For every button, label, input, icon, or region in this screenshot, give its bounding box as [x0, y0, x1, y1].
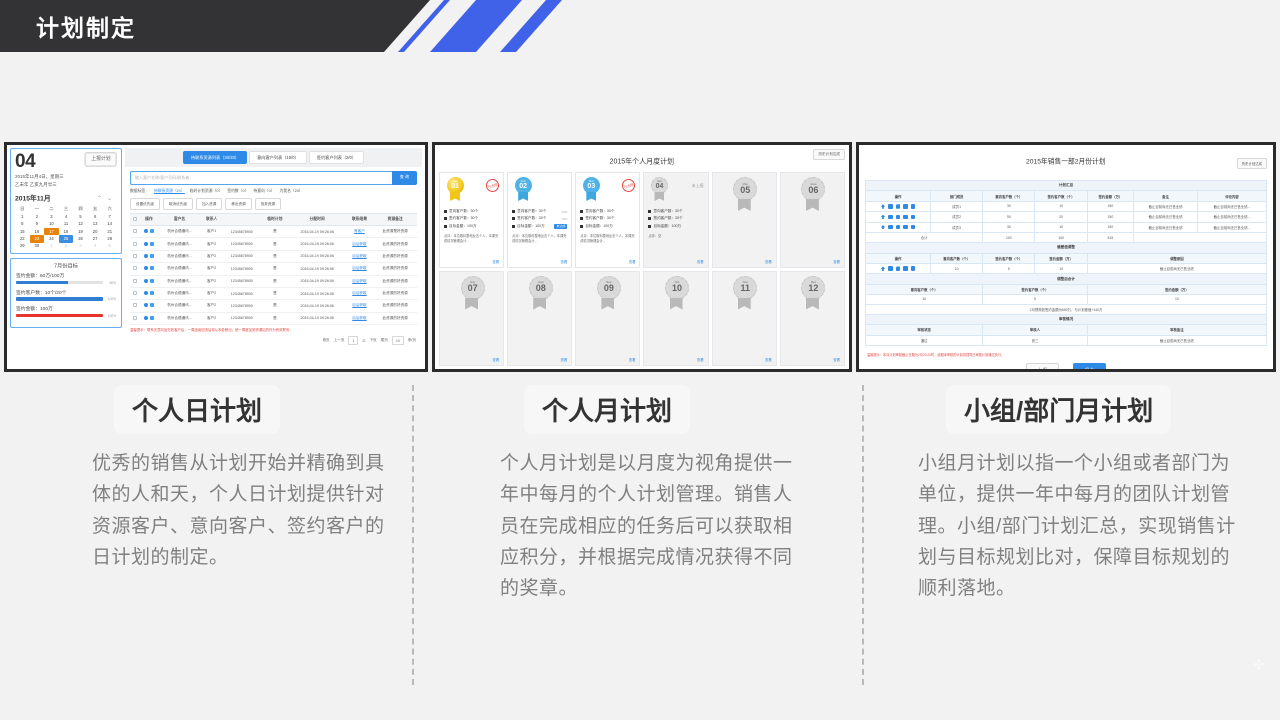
table-cell: 12345678900: [222, 287, 261, 299]
goal-progress-bar: [16, 314, 103, 318]
row-checkbox[interactable]: [130, 312, 140, 324]
table-row[interactable]: 杭州合德通讯...客户212345678900是2015-04-19 09:26…: [130, 312, 417, 324]
table-cell: 150: [1087, 212, 1133, 222]
resource-table-body[interactable]: 杭州合德通讯...客户112345678900是2015-04-19 09:26…: [130, 226, 417, 325]
pager-of: /2: [362, 339, 365, 343]
calendar-day-number: 04: [15, 152, 35, 171]
table-cell: 杭州合德通讯...: [158, 226, 201, 238]
column-header: 意向客户数（个）: [983, 191, 1035, 201]
medal-icon-08: Aug08: [529, 276, 551, 310]
table-cell: 150: [1087, 222, 1133, 232]
column-header-0: [130, 214, 140, 226]
calendar-day[interactable]: 29: [15, 243, 30, 250]
metric-list: 意向客户数：30个签约客户数：30个目标金额：100万: [580, 209, 635, 231]
column-header-2: 客户名: [158, 214, 201, 226]
column-header: 评论内容: [1198, 191, 1267, 201]
month-view-link[interactable]: 查看: [444, 259, 499, 264]
month-comment: 点评：本位取料整地反击个人，本课完成情况管理会计...: [580, 234, 635, 243]
section-header-row: 审核情况: [866, 314, 1267, 324]
calendar-day[interactable]: 7: [102, 213, 117, 220]
filter-link-4[interactable]: 为我名（20）: [280, 189, 303, 194]
table-cell: 此资源的好资源: [373, 238, 417, 250]
achieved-stamp: 已达成: [484, 177, 500, 193]
calendar-day[interactable]: 18: [59, 228, 74, 235]
table-cell: 后后获取: [346, 312, 374, 324]
calendar-date-line-2: 乙未年 乙亥九月廿三: [15, 182, 143, 189]
save-button[interactable]: 保 存: [1073, 363, 1106, 372]
table-cell: 后后获取: [346, 250, 374, 262]
calendar-day[interactable]: 27: [88, 235, 103, 242]
calendar-month-label: 2015年11月: [15, 194, 51, 203]
pager-first[interactable]: 首页: [322, 338, 329, 343]
filter-link-1[interactable]: 临时计划资源（0）: [190, 189, 223, 194]
pager-page[interactable]: 1: [348, 336, 358, 345]
pagination[interactable]: 首页 上一页 1 /2 下页 尾页 10 条/页: [125, 334, 422, 347]
calendar-day[interactable]: 21: [102, 228, 117, 235]
row-checkbox[interactable]: [130, 250, 140, 262]
view-icon[interactable]: [144, 279, 148, 283]
table-cell: 截止目前尚无已售业绩: [1134, 212, 1198, 222]
calendar-weekday: 五: [88, 206, 103, 213]
calendar-weekday: 二: [44, 206, 59, 213]
view-icon[interactable]: [144, 291, 148, 295]
month-card-05[interactable]: May05查看: [712, 172, 777, 268]
table-row[interactable]: 杭州合德通讯...客户212345678900是2015-04-19 09:26…: [130, 263, 417, 275]
calendar-weekday: 一: [30, 206, 45, 213]
table-cell: 150: [1087, 201, 1133, 211]
column-title-monthly: 个人月计划: [524, 385, 690, 434]
month-comment: 点评：空: [648, 234, 703, 239]
month-card-12[interactable]: Dec12查看: [780, 271, 845, 367]
calendar-day[interactable]: 4: [88, 243, 103, 250]
column-title-daily: 个人日计划: [114, 385, 280, 434]
table-cell: 杭州合德通讯...: [158, 300, 201, 312]
table-cell: 截止目前尚无已售业绩...: [1198, 222, 1267, 232]
table-cell: 杭州合德通讯...: [158, 275, 201, 287]
calendar-day[interactable]: 3: [73, 243, 88, 250]
table-cell: 杭州合德通讯...: [158, 250, 201, 262]
goal-percent: 100%: [105, 314, 116, 318]
column-header: 签约金额（万）: [1035, 253, 1087, 263]
calendar-nav-icons[interactable]: ⌃⌄: [97, 195, 117, 202]
table-cell: [140, 263, 159, 275]
table-cell: 后后获取: [346, 287, 374, 299]
goal-title: 7月份目标: [4, 262, 129, 270]
table-cell: 是: [261, 312, 289, 324]
row-action-icons[interactable]: [867, 225, 929, 230]
column-header-5: 临时计划: [261, 214, 289, 226]
month-view-link[interactable]: 查看: [648, 259, 703, 264]
table-row[interactable]: 杭州合德通讯...客户212345678900是2015-04-19 09:26…: [130, 287, 417, 299]
header-stripe-3: [500, 0, 610, 52]
table-cell: 后后获取: [346, 300, 374, 312]
view-icon[interactable]: [144, 242, 148, 246]
row-action-icons[interactable]: [867, 215, 929, 220]
calendar-day[interactable]: 3: [44, 213, 59, 220]
calendar-day[interactable]: 24: [44, 235, 59, 242]
daily-tab-2[interactable]: 签约客户列表（2/0）: [309, 151, 364, 164]
row-checkbox[interactable]: [130, 238, 140, 250]
calendar-day[interactable]: 25: [59, 235, 74, 242]
month-card-01[interactable]: Jan01已达成意向客户数：30个签约客户数：30个目标金额：100万点评：本位…: [439, 172, 504, 268]
table-cell: 12345678900: [222, 300, 261, 312]
daily-tab-0[interactable]: 待联系资源列表（30/20）: [183, 151, 247, 164]
table-cell: 后后获取: [346, 263, 374, 275]
team-plan-tip: 温馨提示：本月计划审核截止日期为2月23:24时，逾期未审核的计划将视同已审核计…: [865, 346, 1267, 357]
calendar-day[interactable]: 15: [15, 228, 30, 235]
unreported-label: 未上报: [692, 183, 704, 189]
table-cell: 此资源的好资源: [373, 287, 417, 299]
goal-item: 签约金额：100万100%: [16, 306, 116, 318]
metric-row: 意向客户数：30个: [648, 209, 703, 214]
table-row[interactable]: 10510截止目前尚无已售业绩: [866, 264, 1267, 274]
calendar-day[interactable]: 28: [102, 235, 117, 242]
medal-icon-12: Dec12: [801, 276, 823, 310]
medal-icon-07: July07: [461, 276, 483, 310]
row-action-icons[interactable]: [867, 266, 929, 271]
pager-last[interactable]: 尾页: [381, 338, 388, 343]
edit-icon[interactable]: [150, 242, 154, 246]
table-cell: 50: [983, 212, 1035, 222]
achieved-stamp: 已达成: [621, 177, 637, 193]
table-cell: 12345678900: [222, 312, 261, 324]
month-card-02[interactable]: Feb02意向客户数：30个40%签约客户数：30个70%目标金额：100万未达…: [507, 172, 572, 268]
calendar-day[interactable]: 1: [44, 243, 59, 250]
table-cell[interactable]: [866, 264, 931, 274]
column-header: 签约金额（万）: [1087, 191, 1133, 201]
metric-row: 意向客户数：30个: [580, 209, 635, 214]
calendar-day[interactable]: 5: [73, 213, 88, 220]
month-view-link[interactable]: 查看: [444, 357, 499, 362]
column-body-daily: 优秀的销售从计划开始并精确到具体的人和天，个人日计划提供针对资源客户、意向客户、…: [92, 448, 392, 573]
after-note: 2月预规划签约金额为650万，与计划差值+140万: [866, 304, 1267, 314]
table-cell: 客户2: [201, 238, 223, 250]
edit-icon[interactable]: [150, 279, 154, 283]
calendar-day[interactable]: 2: [30, 213, 45, 220]
table-cell: 截止目前尚无已售业绩: [1087, 335, 1266, 345]
table-cell: 2015-04-19 09:26:06: [289, 238, 346, 250]
month-card-04[interactable]: Apr04未上报意向客户数：30个签约客户数：30个目标金额：100万点评：空查…: [643, 172, 708, 268]
month-card-07[interactable]: July07查看: [439, 271, 504, 367]
view-icon[interactable]: [144, 254, 148, 258]
team-history-button[interactable]: 历史计划达成: [1237, 158, 1267, 169]
medal-icon-05: May05: [733, 177, 755, 211]
table-row: 通过张三截止目前尚无已售业绩: [866, 335, 1267, 345]
column-header-7: 联系结果: [346, 214, 374, 226]
table-cell: 成员1: [931, 201, 983, 211]
pager-prev[interactable]: 上一页: [334, 338, 345, 343]
section-title: 审核情况: [866, 314, 1267, 324]
report-plan-button[interactable]: 上报计划: [84, 152, 117, 167]
column-divider-2: [862, 385, 864, 685]
team-plan-table: 计划汇总操作部门成员意向客户数（个）签约客户数（个）签约金额（万）备注评论内容成…: [865, 180, 1267, 346]
table-cell: 客户1: [201, 226, 223, 238]
metric-list: 意向客户数：30个40%签约客户数：30个70%目标金额：100万未达成: [512, 209, 567, 231]
calendar-day[interactable]: 19: [73, 228, 88, 235]
table-cell: 客户2: [201, 300, 223, 312]
table-row[interactable]: 杭州合德通讯...客户212345678900是2015-04-19 09:26…: [130, 250, 417, 262]
table-cell: 2015-04-19 09:26:06: [289, 287, 346, 299]
metric-row: 签约客户数：30个70%: [512, 216, 567, 221]
table-cell: 10: [1035, 264, 1087, 274]
calendar-day[interactable]: 9: [30, 221, 45, 228]
column-header-3: 联系人: [201, 214, 223, 226]
table-cell: [866, 212, 931, 222]
month-comment: 点评：本位取料整地反击个人，本课完成情况管理会计...: [512, 234, 567, 243]
table-cell: 客户2: [201, 250, 223, 262]
table-cell: 10: [866, 295, 983, 304]
filter-link-2[interactable]: 签约数（0）: [227, 189, 248, 194]
month-view-link[interactable]: 查看: [580, 357, 635, 362]
calendar-day[interactable]: 1: [15, 213, 30, 220]
goal-item: 签约金额：60万/100万60%: [16, 273, 116, 285]
calendar-day[interactable]: 22: [15, 235, 30, 242]
metric-list: 意向客户数：30个签约客户数：30个目标金额：100万: [648, 209, 703, 231]
calendar-weekday: 六: [102, 206, 117, 213]
table-cell: 是: [261, 263, 289, 275]
column-header: 部门成员: [931, 191, 983, 201]
column-body-monthly: 个人月计划是以月度为视角提供一年中每月的个人计划管理。销售人员在完成相应的任务后…: [500, 448, 810, 605]
section-header-row: 调整后合计: [866, 274, 1267, 284]
table-cell: 客户2: [201, 263, 223, 275]
pager-size[interactable]: 10: [392, 336, 404, 345]
edit-icon[interactable]: [150, 316, 154, 320]
calendar-day[interactable]: 23: [30, 235, 45, 242]
column-header: 操作: [866, 191, 931, 201]
screenshot-daily-plan: 04 上报计划 2015年11月4日，星期三 乙未年 乙亥九月廿三 2015年1…: [4, 142, 428, 372]
search-input[interactable]: 输入客户名称/客户号码/联系者: [130, 171, 392, 185]
monthly-medal-grid[interactable]: Jan01已达成意向客户数：30个签约客户数：30个目标金额：100万点评：本位…: [439, 172, 845, 366]
month-card-10[interactable]: Oct10查看: [643, 271, 708, 367]
goal-percent: 60%: [105, 281, 116, 285]
total-cell: 515: [1087, 232, 1133, 242]
table-row[interactable]: 杭州合德通讯...客户212345678900是2015-04-19 09:26…: [130, 275, 417, 287]
total-label: 合计: [866, 232, 983, 242]
table-cell: 是: [261, 238, 289, 250]
month-card-11[interactable]: Nov11查看: [712, 271, 777, 367]
filter-link-0[interactable]: 待联系资源（20）: [154, 189, 185, 194]
table-cell: 是: [261, 226, 289, 238]
table-cell: 截止目前尚无已售业绩...: [1198, 212, 1267, 222]
table-row[interactable]: 成员33010150截止目前尚无已售业绩截止目前尚无已售业绩...: [866, 222, 1267, 232]
table-cell: 此资源的好资源: [373, 275, 417, 287]
submit-button[interactable]: 上 报: [1026, 363, 1059, 372]
month-view-link[interactable]: 查看: [512, 259, 567, 264]
calendar-day[interactable]: 6: [88, 213, 103, 220]
view-icon[interactable]: [144, 303, 148, 307]
column-header: 签约客户数（个）: [1035, 191, 1087, 201]
table-cell: 截止目前尚无已售业绩: [1134, 222, 1198, 232]
metric-row: 签约客户数：30个: [648, 216, 703, 221]
row-action-icons[interactable]: [867, 204, 929, 209]
month-card-06[interactable]: June06查看: [780, 172, 845, 268]
total-row: 合计100100515: [866, 232, 1267, 242]
header-row: 意向客户数（个）签约客户数（个）签约金额（万）: [866, 284, 1267, 294]
table-cell: 12345678900: [222, 250, 261, 262]
resource-action-1[interactable]: 取消优先级: [163, 198, 193, 210]
column-header: 签约客户数（个）: [983, 284, 1087, 294]
table-row[interactable]: 杭州合德通讯...客户212345678900是2015-04-19 09:26…: [130, 238, 417, 250]
table-cell: [140, 312, 159, 324]
month-view-link[interactable]: 查看: [717, 357, 772, 362]
table-cell: 截止目前尚无已售业绩: [1087, 264, 1266, 274]
resource-action-0[interactable]: 设置优先级: [130, 198, 160, 210]
column-header: 审核备注: [1087, 325, 1266, 335]
column-header: 审核人: [983, 325, 1087, 335]
medal-icon-01: Jan01: [444, 177, 466, 201]
daily-tabs[interactable]: 待联系资源列表（30/20）意向客户列表（10/0）签约客户列表（2/0）: [125, 148, 422, 167]
search-button[interactable]: 查 询: [392, 171, 417, 185]
calendar-day[interactable]: 5: [102, 243, 117, 250]
table-cell: 此资源的好资源: [373, 263, 417, 275]
goal-label: 签约客户数：10个/20个: [16, 289, 136, 296]
metric-row: 目标金额：100万: [580, 224, 635, 229]
table-cell: 有客户: [346, 226, 374, 238]
calendar-day[interactable]: 12: [73, 221, 88, 228]
description-columns: 个人日计划 优秀的销售从计划开始并精确到具体的人和天，个人日计划提供针对资源客户…: [0, 385, 1280, 705]
month-card-03[interactable]: Mar03已达成意向客户数：30个签约客户数：30个目标金额：100万点评：本位…: [575, 172, 640, 268]
calendar-grid[interactable]: 日一二三四五六123456789101112131415161718192021…: [15, 206, 117, 250]
metric-row: 目标金额：100万: [444, 224, 499, 229]
edit-icon[interactable]: [150, 303, 154, 307]
calendar-weekday: 四: [73, 206, 88, 213]
table-cell: 5: [983, 264, 1035, 274]
month-view-link[interactable]: 查看: [717, 259, 772, 264]
section-title: 偏差值调整: [866, 243, 1267, 253]
table-row: 10510: [866, 295, 1267, 304]
table-cell: 30: [983, 222, 1035, 232]
description-column-monthly: 个人月计划 个人月计划是以月度为视角提供一年中每月的个人计划管理。销售人员在完成…: [500, 385, 810, 605]
edit-icon[interactable]: [150, 229, 154, 233]
pager-next[interactable]: 下页: [369, 338, 376, 343]
table-cell: 截止目前尚无已售业绩...: [1198, 201, 1267, 211]
table-cell: [140, 250, 159, 262]
calendar-day[interactable]: 10: [44, 221, 59, 228]
calendar-day[interactable]: 8: [15, 221, 30, 228]
medal-icon-09: Sep09: [597, 276, 619, 310]
table-cell: 是: [261, 300, 289, 312]
table-cell: 2015-04-19 09:26:06: [289, 250, 346, 262]
calendar-day[interactable]: 4: [59, 213, 74, 220]
data-tag-filters[interactable]: 数据标签：待联系资源（20）临时计划资源（0）签约数（0）待意向（0）为我名（2…: [125, 187, 422, 196]
table-cell: 通过: [866, 335, 983, 345]
page-header: 计划制定: [0, 0, 1280, 52]
month-card-09[interactable]: Sep09查看: [575, 271, 640, 367]
column-header: 签约客户数（个）: [983, 253, 1035, 263]
metric-row: 签约客户数：30个: [444, 216, 499, 221]
table-row[interactable]: 杭州合德通讯...客户212345678900是2015-04-19 09:26…: [130, 300, 417, 312]
goal-percent: 100%: [105, 297, 116, 301]
goal-item: 签约客户数：10个/20个100%: [16, 290, 116, 302]
month-view-link[interactable]: 查看: [648, 357, 703, 362]
calendar-date-line-1: 2015年11月4日，星期三: [15, 174, 143, 181]
metric-row: 意向客户数：30个: [444, 209, 499, 214]
calendar-day[interactable]: 20: [88, 228, 103, 235]
column-divider-1: [412, 385, 414, 685]
metric-row: 目标金额：100万: [648, 224, 703, 229]
table-cell: 2015-04-19 09:26:06: [289, 263, 346, 275]
resource-action-buttons[interactable]: 设置优先级取消优先级加入资源移出资源放弃资源: [125, 196, 422, 213]
resource-action-4[interactable]: 放弃资源: [255, 198, 281, 210]
team-plan-table-body[interactable]: 计划汇总操作部门成员意向客户数（个）签约客户数（个）签约金额（万）备注评论内容成…: [866, 181, 1267, 346]
column-header-6: 分配时间: [289, 214, 346, 226]
table-cell: 此资源的好资源: [373, 312, 417, 324]
filter-link-3[interactable]: 待意向（0）: [253, 189, 274, 194]
table-cell: 30: [983, 201, 1035, 211]
month-view-link[interactable]: 查看: [785, 357, 840, 362]
view-icon[interactable]: [144, 229, 148, 233]
calendar-day[interactable]: 30: [30, 243, 45, 250]
month-view-link[interactable]: 查看: [512, 357, 567, 362]
column-header: 签约金额（万）: [1087, 284, 1266, 294]
table-cell: 10: [1035, 201, 1087, 211]
column-header: 备注: [1134, 191, 1198, 201]
monthly-plan-title: 2015年个人月度计划: [610, 156, 675, 166]
calendar-day[interactable]: 2: [59, 243, 74, 250]
row-checkbox[interactable]: [130, 226, 140, 238]
watermark-icon: ✣: [1252, 658, 1266, 672]
team-plan-title: 2015年销售一部2月份计划: [1026, 156, 1105, 166]
resource-action-2[interactable]: 加入资源: [196, 198, 222, 210]
column-title-team: 小组/部门月计划: [946, 385, 1171, 434]
edit-icon[interactable]: [150, 266, 154, 270]
table-cell: 杭州合德通讯...: [158, 238, 201, 250]
table-cell: 杭州合德通讯...: [158, 312, 201, 324]
section-title: 计划汇总: [866, 181, 1267, 191]
month-view-link[interactable]: 查看: [785, 259, 840, 264]
table-cell: [140, 300, 159, 312]
calendar-weekday: 日: [15, 206, 30, 213]
table-cell: 2015-04-19 09:26:06: [289, 300, 346, 312]
calendar-day[interactable]: 14: [102, 221, 117, 228]
edit-icon[interactable]: [150, 254, 154, 258]
calendar-day[interactable]: 13: [88, 221, 103, 228]
goal-item-list: 签约金额：60万/100万60%签约客户数：10个/20个100%签约金额：10…: [16, 273, 116, 318]
view-icon[interactable]: [144, 266, 148, 270]
table-row[interactable]: 杭州合德通讯...客户112345678900是2015-04-19 09:26…: [130, 226, 417, 238]
history-achievement-button[interactable]: 历史计划达成: [813, 149, 845, 160]
edit-icon[interactable]: [150, 291, 154, 295]
table-cell: 是: [261, 287, 289, 299]
table-cell: 截止目前尚无已售业绩: [1134, 201, 1198, 211]
pager-unit: 条/页: [408, 338, 416, 343]
table-row[interactable]: 成员13010150截止目前尚无已售业绩截止目前尚无已售业绩...: [866, 201, 1267, 211]
medal-icon-11: Nov11: [733, 276, 755, 310]
section-header-row: 偏差值调整: [866, 243, 1267, 253]
total-cell: 100: [983, 232, 1035, 242]
calendar-day[interactable]: 16: [30, 228, 45, 235]
daily-tab-1[interactable]: 意向客户列表（10/0）: [249, 151, 307, 164]
table-cell: 杭州合德通讯...: [158, 263, 201, 275]
resource-action-3[interactable]: 移出资源: [225, 198, 251, 210]
month-view-link[interactable]: 查看: [580, 259, 635, 264]
calendar-day[interactable]: 17: [44, 228, 59, 235]
screenshot-monthly-plan: 2015年个人月度计划 历史计划达成 Jan01已达成意向客户数：30个签约客户…: [432, 142, 852, 372]
calendar-day[interactable]: 26: [73, 235, 88, 242]
goal-card: 7月份目标 签约金额：60万/100万60%签约客户数：10个/20个100%签…: [10, 258, 122, 328]
screenshot-strip: 04 上报计划 2015年11月4日，星期三 乙未年 乙亥九月廿三 2015年1…: [4, 142, 1276, 372]
column-header: 调整原因: [1087, 253, 1266, 263]
calendar-day[interactable]: 11: [59, 221, 74, 228]
after-note-row: 2月预规划签约金额为650万，与计划差值+140万: [866, 304, 1267, 314]
table-cell: 10: [1087, 295, 1266, 304]
table-row[interactable]: 成员25020150截止目前尚无已售业绩截止目前尚无已售业绩...: [866, 212, 1267, 222]
table-cell: 后后获取: [346, 275, 374, 287]
view-icon[interactable]: [144, 316, 148, 320]
month-card-08[interactable]: Aug08查看: [507, 271, 572, 367]
screenshot-team-plan: 2015年销售一部2月份计划 历史计划达成 计划汇总操作部门成员意向客户数（个）…: [856, 142, 1276, 372]
table-cell: 是: [261, 250, 289, 262]
